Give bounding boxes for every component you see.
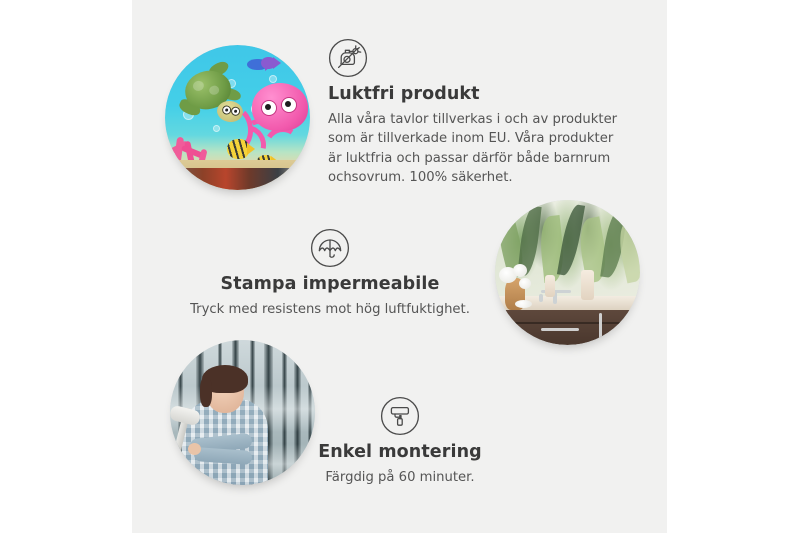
feature-odourless-title: Luktfri produkt [328,84,628,105]
screenshot-root: Luktfri produkt Alla våra tavlor tillver… [0,0,800,533]
feature-easy-mounting-body: Färgdig på 60 minuter. [250,468,550,487]
feature-easy-mounting-text: Enkel montering Färgdig på 60 minuter. [250,396,550,487]
feature-waterproof-text: Stampa impermeabile Tryck med resistens … [180,228,480,319]
bathroom-tropical-wallpaper-photo [495,200,640,345]
feature-odourless-body: Alla våra tavlor tillverkas i och av pro… [328,110,628,187]
feature-waterproof-body: Tryck med resistens mot hög luftfuktighe… [180,300,480,319]
underwater-cartoon-mural-photo [165,45,310,190]
feature-odourless-text: Luktfri produkt Alla våra tavlor tillver… [328,38,628,187]
product-features-panel: Luktfri produkt Alla våra tavlor tillver… [132,0,667,533]
paint-roller-icon [380,396,420,436]
umbrella-icon [310,228,350,268]
feature-easy-mounting-title: Enkel montering [250,442,550,463]
feature-waterproof-title: Stampa impermeabile [180,274,480,295]
no-odour-spray-bottle-icon [328,38,368,78]
